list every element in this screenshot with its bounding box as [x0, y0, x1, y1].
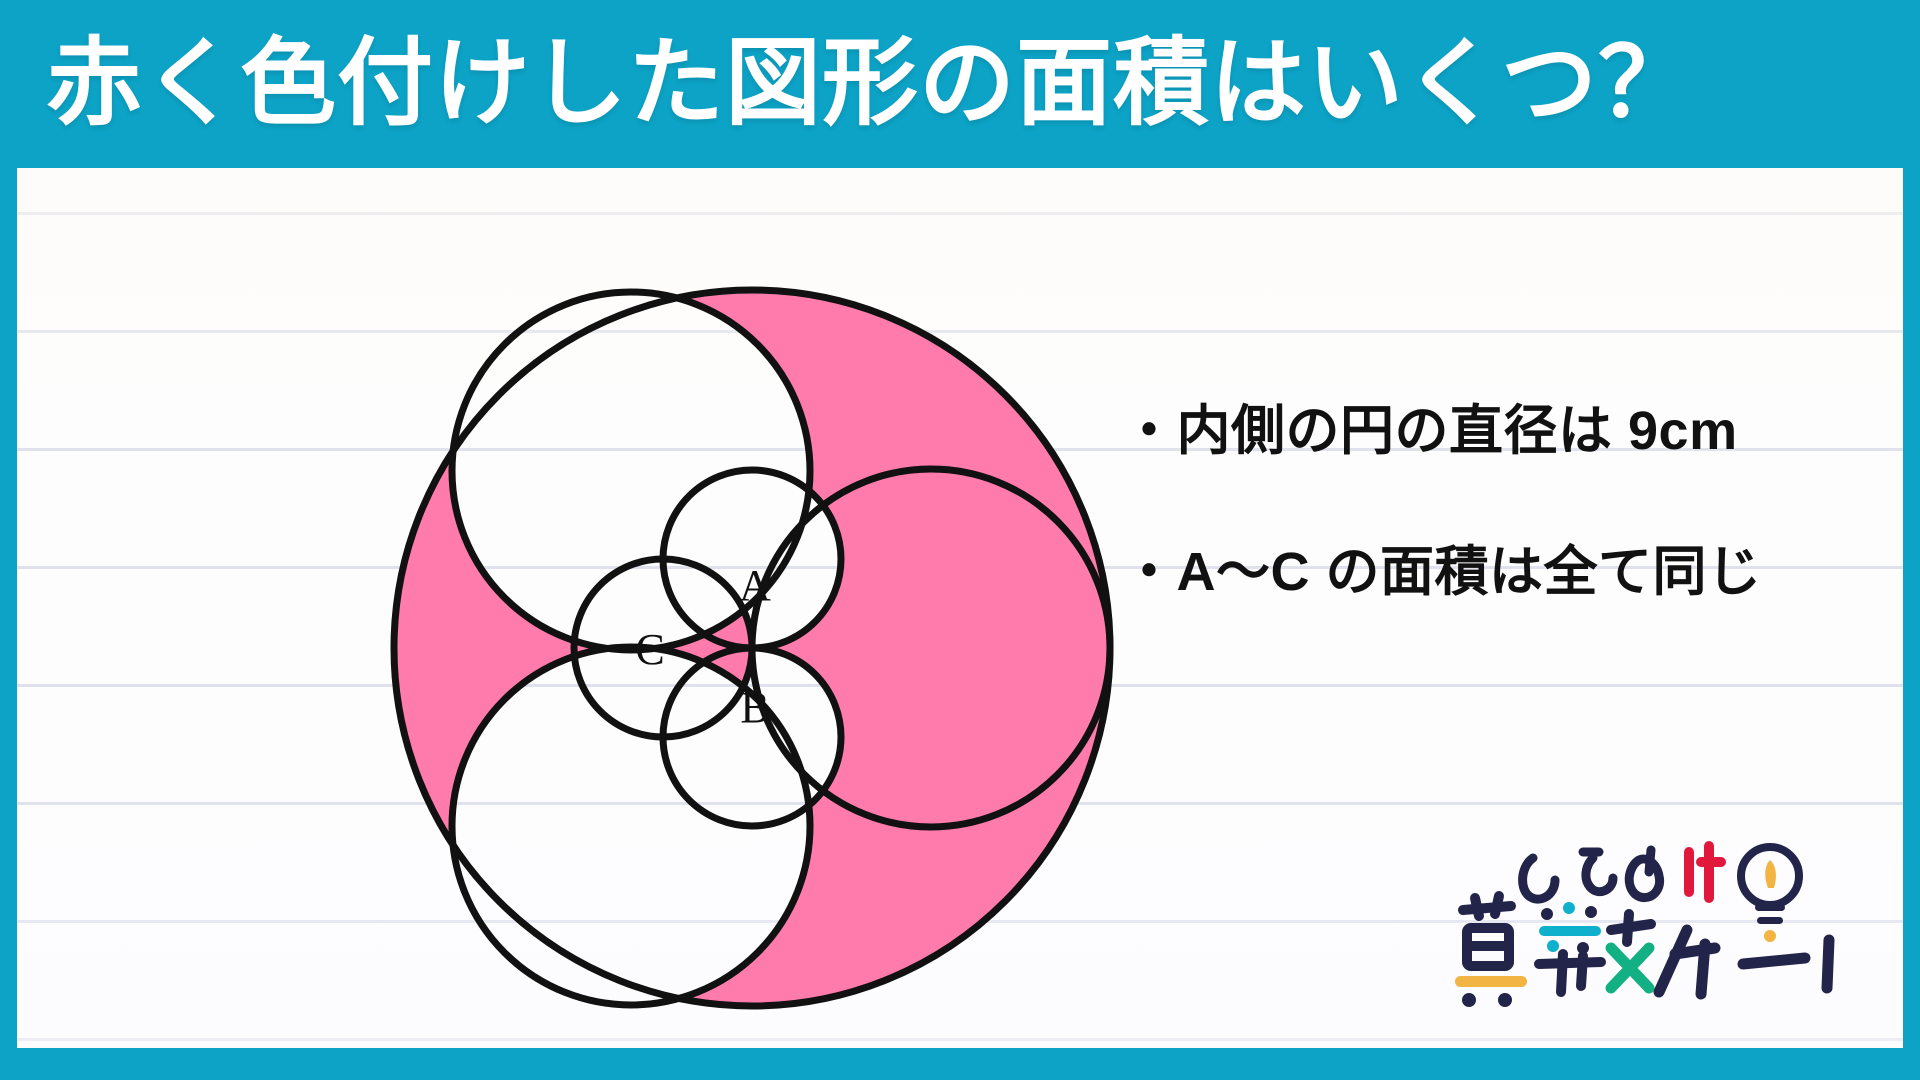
note-item-diameter: ・内側の円の直径は 9cm — [1122, 403, 1862, 460]
lightbulb-icon — [1741, 847, 1799, 942]
rule-line — [17, 1038, 1903, 1041]
brand-logo — [1443, 836, 1863, 1026]
note-item-equal-areas: ・A〜C の面積は全て同じ — [1122, 544, 1862, 601]
notebook-paper: A B C ・内側の円の直径は 9cm ・A〜C の面積は全て同じ — [17, 168, 1903, 1048]
notes-list: ・内側の円の直径は 9cm ・A〜C の面積は全て同じ — [1122, 403, 1862, 684]
label-c: C — [635, 625, 664, 674]
geometry-figure: A B C — [372, 268, 1132, 1028]
logo-top-text — [1523, 850, 1660, 899]
rule-line — [17, 212, 1903, 215]
logo-kanji-san — [1455, 896, 1527, 1007]
geometry-svg: A B C — [372, 268, 1132, 1028]
slide-root: 赤く色付けした図形の面積はいくつ？ — [0, 0, 1920, 1080]
logo-ke-glyph — [1689, 846, 1721, 898]
logo-kanji-suu — [1539, 902, 1651, 992]
page-title: 赤く色付けした図形の面積はいくつ？ — [46, 36, 1695, 132]
brand-logo-svg — [1443, 836, 1863, 1026]
label-a: A — [739, 561, 771, 610]
label-b: B — [740, 683, 769, 732]
header-banner: 赤く色付けした図形の面積はいくつ？ — [0, 0, 1920, 168]
logo-underline-yellow — [1455, 976, 1527, 987]
logo-katakana-note — [1659, 930, 1829, 994]
